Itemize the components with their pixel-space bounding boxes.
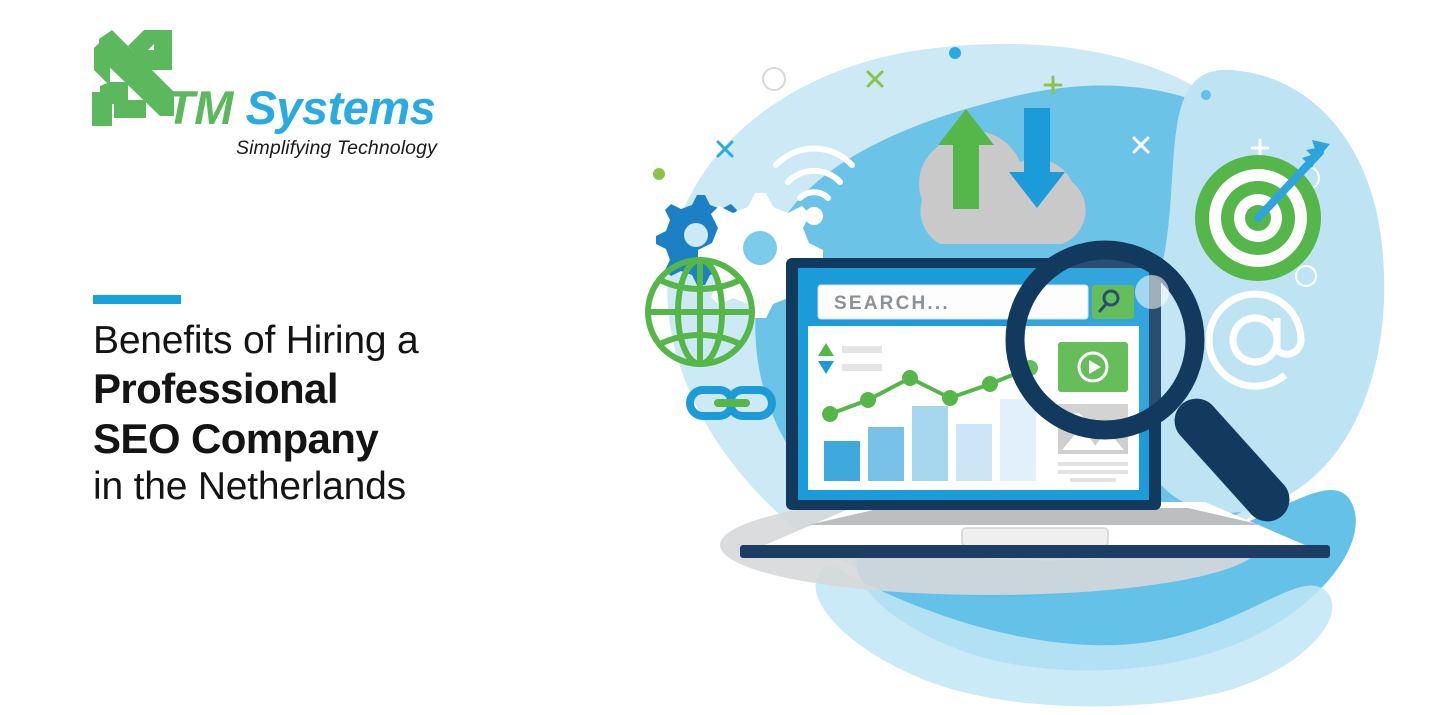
brand-tagline: Simplifying Technology (236, 137, 506, 160)
legend-bar-1 (842, 346, 882, 353)
headline-line-4: in the Netherlands (93, 464, 553, 510)
text-line (1070, 478, 1116, 482)
search-placeholder-text: SEARCH... (834, 293, 950, 314)
headline-line-1: Benefits of Hiring a (93, 318, 553, 364)
dot-green-icon (653, 168, 665, 180)
magnifier-glare-icon (1135, 275, 1169, 309)
chart-bar (824, 441, 860, 481)
laptop-keyboard (808, 508, 1262, 525)
laptop-trackpad (962, 528, 1108, 546)
chart-point (822, 406, 838, 422)
text-line (1058, 470, 1128, 474)
chart-point (982, 376, 998, 392)
page-title: Benefits of Hiring a Professional SEO Co… (93, 318, 553, 511)
tm-systems-chevron-logo-icon (88, 30, 174, 126)
headline-line-3: SEO Company (93, 414, 553, 464)
chart-point (860, 392, 876, 408)
chart-bar (1000, 399, 1036, 481)
chart-bar (912, 406, 948, 481)
chart-bar (956, 424, 992, 481)
chart-point (902, 370, 918, 386)
chart-point (942, 390, 958, 406)
seo-marketing-banner: TM Systems Simplifying Technology Benefi… (0, 0, 1431, 715)
headline-line-2: Professional (93, 364, 553, 414)
brand-logo[interactable]: TM Systems Simplifying Technology (88, 26, 508, 166)
accent-bar (93, 295, 181, 304)
text-line (1058, 462, 1128, 466)
globe-icon (648, 260, 752, 364)
dot-blue-small-icon (1201, 90, 1211, 100)
brand-name-part1: TM (166, 81, 233, 134)
brand-wordmark: TM Systems Simplifying Technology (166, 84, 506, 160)
circle-outline-gray-icon (763, 68, 785, 90)
brand-name: TM Systems (166, 84, 506, 131)
dot-blue-icon (949, 47, 961, 59)
chart-bar (868, 427, 904, 481)
laptop-base-edge (740, 545, 1330, 558)
seo-illustration: SEARCH... (590, 0, 1431, 715)
brand-name-part2: Systems (245, 81, 435, 134)
legend-bar-2 (842, 364, 882, 371)
